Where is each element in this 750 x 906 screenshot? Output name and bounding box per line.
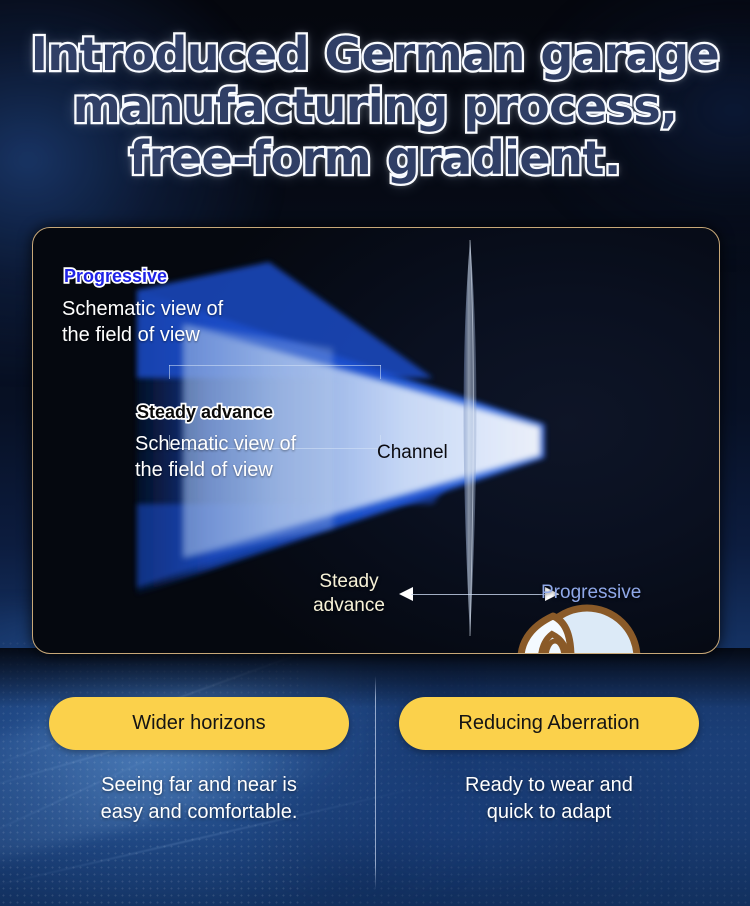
feature-block-reducing-aberration: Reducing Aberration Ready to wear and qu… bbox=[399, 697, 699, 826]
feature-description-wider-horizons: Seeing far and near is easy and comforta… bbox=[49, 772, 349, 826]
feature-pill-wider-horizons[interactable]: Wider horizons bbox=[49, 697, 349, 750]
diagram-card: Progressive Schematic view of the field … bbox=[32, 227, 720, 654]
label-progressive-sub: Schematic view of the field of view bbox=[62, 296, 223, 348]
label-progressive: Progressive bbox=[64, 266, 167, 287]
feature-divider bbox=[375, 676, 376, 890]
label-steady-advance: Steady advance bbox=[137, 402, 273, 423]
arrow-shaft bbox=[411, 594, 559, 595]
label-steady-advance-sub: Schematic view of the field of view bbox=[135, 431, 296, 483]
channel-tick-left-top bbox=[169, 365, 170, 379]
channel-bracket-top bbox=[169, 365, 381, 366]
channel-tick-right-top bbox=[380, 365, 381, 379]
infographic-page: Introduced German garage manufacturing p… bbox=[0, 0, 750, 906]
label-channel: Channel bbox=[377, 442, 448, 464]
feature-pill-reducing-aberration[interactable]: Reducing Aberration bbox=[399, 697, 699, 750]
feature-description-reducing-aberration: Ready to wear and quick to adapt bbox=[399, 772, 699, 826]
diagram-card-inner: Progressive Schematic view of the field … bbox=[33, 228, 719, 653]
direction-arrow-row: Steady advance Progressive bbox=[301, 570, 701, 626]
page-headline: Introduced German garage manufacturing p… bbox=[0, 28, 750, 184]
arrow-label-progressive: Progressive bbox=[541, 582, 641, 604]
feature-block-wider-horizons: Wider horizons Seeing far and near is ea… bbox=[49, 697, 349, 826]
arrow-label-steady-advance: Steady advance bbox=[301, 570, 397, 618]
